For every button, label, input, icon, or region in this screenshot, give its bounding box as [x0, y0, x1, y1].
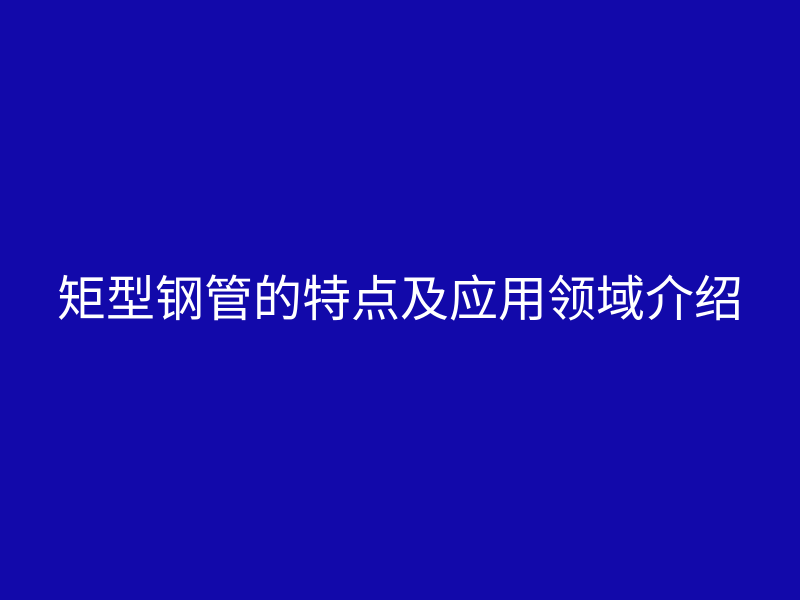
slide-canvas: 矩型钢管的特点及应用领域介绍 — [0, 0, 800, 600]
page-title: 矩型钢管的特点及应用领域介绍 — [20, 274, 780, 325]
title-block: 矩型钢管的特点及应用领域介绍 — [0, 274, 800, 325]
